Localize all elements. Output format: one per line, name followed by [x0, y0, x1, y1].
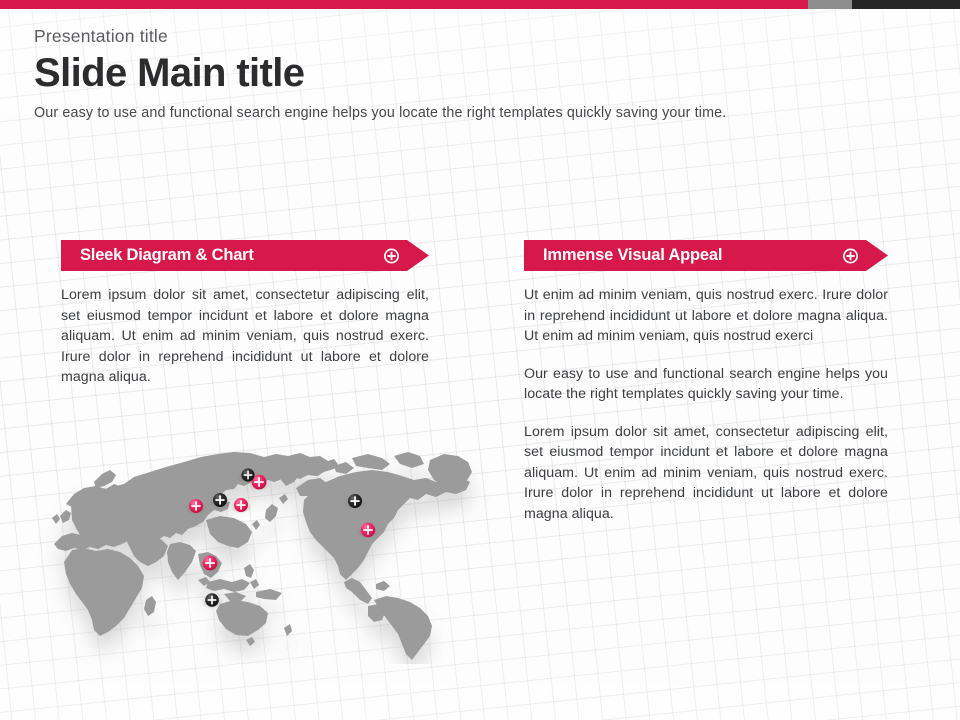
top-bar-segment-gray [808, 0, 852, 9]
top-accent-bar [0, 0, 960, 9]
marker-united-states[interactable] [361, 523, 375, 537]
top-bar-segment-red [0, 0, 808, 9]
left-paragraph-1: Lorem ipsum dolor sit amet, consectetur … [61, 285, 429, 388]
marker-kamchatka[interactable] [241, 468, 254, 481]
world-map[interactable] [38, 432, 508, 664]
right-column: Immense Visual Appeal Ut enim ad minim v… [524, 240, 888, 538]
left-section-title: Sleek Diagram & Chart [80, 246, 254, 265]
marker-canada[interactable] [348, 494, 362, 508]
slide-subtitle: Our easy to use and functional search en… [34, 105, 914, 121]
slide-main-title: Slide Main title [34, 51, 914, 96]
marker-japan[interactable] [234, 498, 248, 512]
presentation-title: Presentation title [34, 26, 914, 47]
slide-canvas: Presentation title Slide Main title Our … [0, 0, 960, 720]
slide-header: Presentation title Slide Main title Our … [34, 26, 914, 121]
marker-australia[interactable] [205, 593, 219, 607]
right-paragraph-1: Ut enim ad minim veniam, quis nostrud ex… [524, 285, 888, 347]
marker-philippines[interactable] [203, 556, 218, 571]
plus-circle-icon[interactable] [384, 248, 399, 263]
right-paragraph-3: Lorem ipsum dolor sit amet, consectetur … [524, 422, 888, 525]
top-bar-segment-dark [852, 0, 960, 9]
marker-east-asia[interactable] [189, 499, 203, 513]
right-paragraph-2: Our easy to use and functional search en… [524, 364, 888, 405]
right-section-title: Immense Visual Appeal [543, 246, 722, 265]
left-column: Sleek Diagram & Chart Lorem ipsum dolor … [61, 240, 429, 402]
left-section-banner[interactable]: Sleek Diagram & Chart [61, 240, 429, 271]
marker-europe[interactable] [213, 493, 227, 507]
right-section-banner[interactable]: Immense Visual Appeal [524, 240, 888, 271]
plus-circle-icon[interactable] [843, 248, 858, 263]
